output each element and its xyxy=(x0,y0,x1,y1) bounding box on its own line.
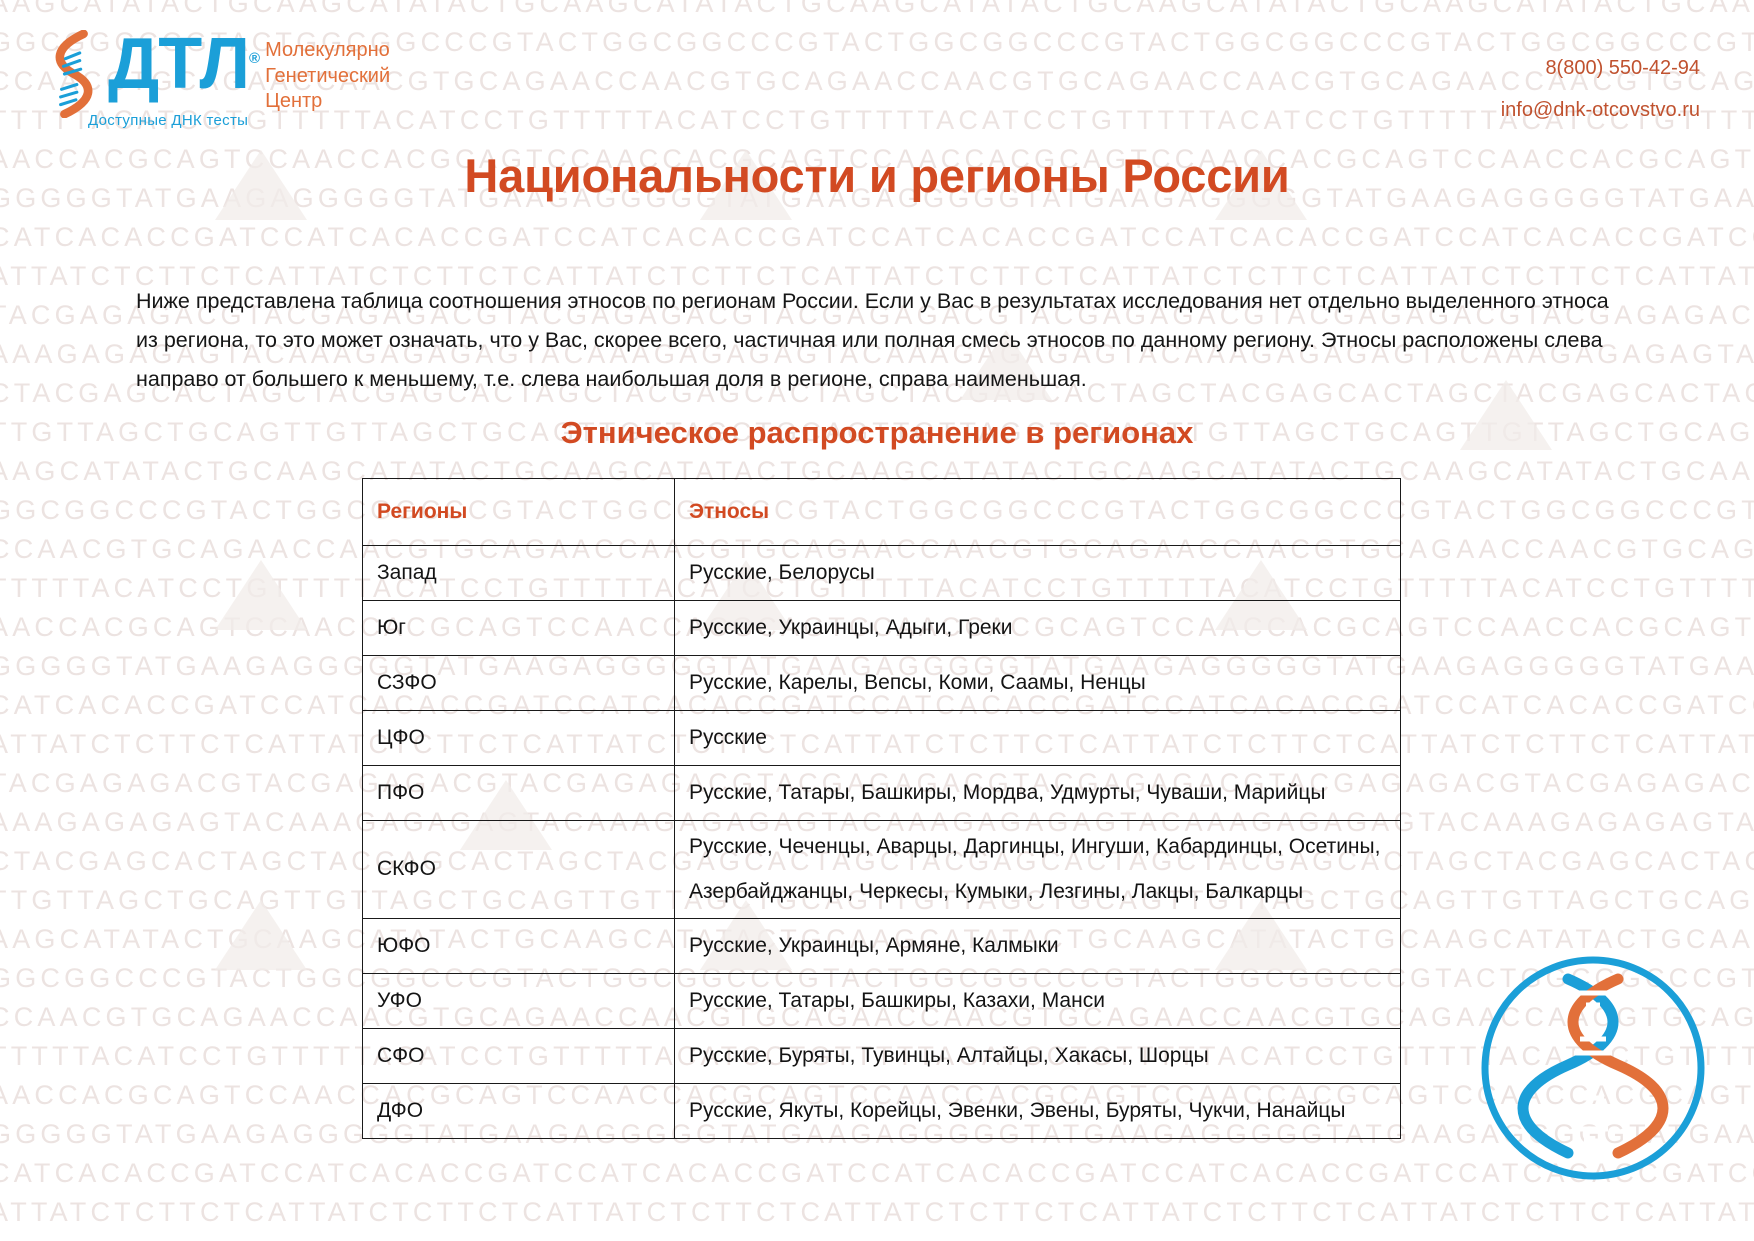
table-row: ЮФОРусские, Украинцы, Армяне, Калмыки xyxy=(363,919,1401,974)
logo-subtitle-line-3: Центр xyxy=(265,89,390,115)
table-row: ЮгРусские, Украинцы, Адыги, Греки xyxy=(363,601,1401,656)
region-cell: СФО xyxy=(363,1029,675,1084)
region-cell: Юг xyxy=(363,601,675,656)
ethnos-cell: Русские, Украинцы, Адыги, Греки xyxy=(675,601,1401,656)
registered-mark-icon: ® xyxy=(249,50,259,67)
document-page: ДТЛ® Молекулярно Генетический Центр Дост… xyxy=(0,0,1754,1241)
table-row: ДФОРусские, Якуты, Корейцы, Эвенки, Эвен… xyxy=(363,1084,1401,1139)
column-header-ethnos: Этносы xyxy=(675,479,1401,546)
page-header: ДТЛ® Молекулярно Генетический Центр Дост… xyxy=(0,0,1754,150)
ethnic-distribution-table: Регионы Этносы ЗападРусские, БелорусыЮгР… xyxy=(362,478,1401,1139)
table-row: СФОРусские, Буряты, Тувинцы, Алтайцы, Ха… xyxy=(363,1029,1401,1084)
region-cell: УФО xyxy=(363,974,675,1029)
ethnos-line: Русские, Белорусы xyxy=(689,557,1386,590)
ethnos-cell: Русские, Буряты, Тувинцы, Алтайцы, Хакас… xyxy=(675,1029,1401,1084)
ethnos-line: Азербайджанцы, Черкесы, Кумыки, Лезгины,… xyxy=(689,876,1386,909)
table-row: УФОРусские, Татары, Башкиры, Казахи, Ман… xyxy=(363,974,1401,1029)
ethnos-cell: Русские, Якуты, Корейцы, Эвенки, Эвены, … xyxy=(675,1084,1401,1139)
ethnos-cell: Русские, Татары, Башкиры, Мордва, Удмурт… xyxy=(675,766,1401,821)
logo-subtitle-line-2: Генетический xyxy=(265,64,390,90)
column-header-regions: Регионы xyxy=(363,479,675,546)
logo-tagline: Доступные ДНК тесты xyxy=(88,112,248,129)
ethnos-line: Русские, Карелы, Вепсы, Коми, Саамы, Нен… xyxy=(689,667,1386,700)
ethnos-line: Русские, Чеченцы, Аварцы, Даргинцы, Ингу… xyxy=(689,831,1386,864)
table-header-row: Регионы Этносы xyxy=(363,479,1401,546)
region-cell: СКФО xyxy=(363,821,675,919)
ethnos-cell: Русские, Украинцы, Армяне, Калмыки xyxy=(675,919,1401,974)
table-row: СЗФОРусские, Карелы, Вепсы, Коми, Саамы,… xyxy=(363,656,1401,711)
dna-helix-icon xyxy=(44,30,104,118)
contact-email[interactable]: info@dnk-otcovstvo.ru xyxy=(1501,100,1700,121)
region-cell: ЮФО xyxy=(363,919,675,974)
section-heading: Этническое распространение в регионах xyxy=(0,415,1754,451)
page-title: Национальности и регионы России xyxy=(0,148,1754,203)
dna-circle-emblem xyxy=(1468,943,1718,1193)
ethnos-line: Русские, Украинцы, Адыги, Греки xyxy=(689,612,1386,645)
ethnos-cell: Русские, Карелы, Вепсы, Коми, Саамы, Нен… xyxy=(675,656,1401,711)
logo-subtitle-line-1: Молекулярно xyxy=(265,38,390,64)
ethnos-line: Русские, Татары, Башкиры, Мордва, Удмурт… xyxy=(689,777,1386,810)
ethnos-line: Русские, Буряты, Тувинцы, Алтайцы, Хакас… xyxy=(689,1040,1386,1073)
logo-subtitle: Молекулярно Генетический Центр xyxy=(265,38,390,115)
region-cell: ДФО xyxy=(363,1084,675,1139)
table-body: ЗападРусские, БелорусыЮгРусские, Украинц… xyxy=(363,546,1401,1139)
logo-brand: ДТЛ® xyxy=(108,30,259,98)
ethnos-line: Русские, Украинцы, Армяне, Калмыки xyxy=(689,930,1386,963)
ethnos-cell: Русские xyxy=(675,711,1401,766)
contact-phone[interactable]: 8(800) 550-42-94 xyxy=(1501,58,1700,79)
region-cell: ПФО xyxy=(363,766,675,821)
ethnic-distribution-table-wrapper: Регионы Этносы ЗападРусские, БелорусыЮгР… xyxy=(362,478,1400,1139)
table-row: ЦФОРусские xyxy=(363,711,1401,766)
table-row: ПФОРусские, Татары, Башкиры, Мордва, Удм… xyxy=(363,766,1401,821)
table-row: СКФОРусские, Чеченцы, Аварцы, Даргинцы, … xyxy=(363,821,1401,919)
ethnos-line: Русские, Якуты, Корейцы, Эвенки, Эвены, … xyxy=(689,1095,1386,1128)
ethnos-cell: Русские, Чеченцы, Аварцы, Даргинцы, Ингу… xyxy=(675,821,1401,919)
ethnos-cell: Русские, Белорусы xyxy=(675,546,1401,601)
company-logo: ДТЛ® Молекулярно Генетический Центр xyxy=(44,30,390,118)
ethnos-line: Русские, Татары, Башкиры, Казахи, Манси xyxy=(689,985,1386,1018)
intro-paragraph: Ниже представлена таблица соотношения эт… xyxy=(136,282,1618,399)
region-cell: Запад xyxy=(363,546,675,601)
logo-brand-text: ДТЛ xyxy=(108,24,249,104)
header-contacts: 8(800) 550-42-94 info@dnk-otcovstvo.ru xyxy=(1501,58,1700,121)
region-cell: ЦФО xyxy=(363,711,675,766)
table-row: ЗападРусские, Белорусы xyxy=(363,546,1401,601)
region-cell: СЗФО xyxy=(363,656,675,711)
ethnos-cell: Русские, Татары, Башкиры, Казахи, Манси xyxy=(675,974,1401,1029)
ethnos-line: Русские xyxy=(689,722,1386,755)
logo-text: ДТЛ® Молекулярно Генетический Центр xyxy=(108,30,390,115)
